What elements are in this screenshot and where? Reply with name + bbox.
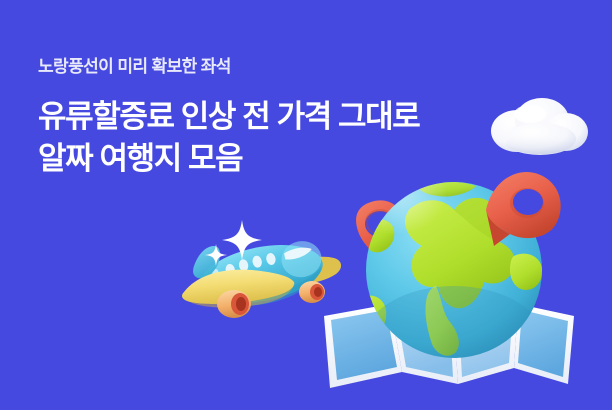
banner-eyebrow: 노랑풍선이 미리 확보한 좌석 [38, 54, 419, 80]
headline-line-1: 유류할증료 인상 전 가격 그대로 [38, 96, 419, 138]
banner-text-block: 노랑풍선이 미리 확보한 좌석 유류할증료 인상 전 가격 그대로 알짜 여행지… [38, 54, 419, 180]
headline-line-2: 알짜 여행지 모음 [38, 138, 419, 180]
globe-illustration [318, 158, 580, 390]
cloud-icon [484, 94, 592, 158]
engine-rear [299, 281, 325, 303]
sparkle-small-icon [205, 244, 227, 266]
banner-headline: 유류할증료 인상 전 가격 그대로 알짜 여행지 모음 [38, 96, 419, 180]
sparkle-large-icon [222, 220, 262, 260]
promo-banner[interactable]: 노랑풍선이 미리 확보한 좌석 유류할증료 인상 전 가격 그대로 알짜 여행지… [0, 0, 612, 410]
sparkle-group [204, 216, 266, 272]
map-pin-right-icon [486, 172, 561, 246]
engine-front [217, 290, 251, 318]
